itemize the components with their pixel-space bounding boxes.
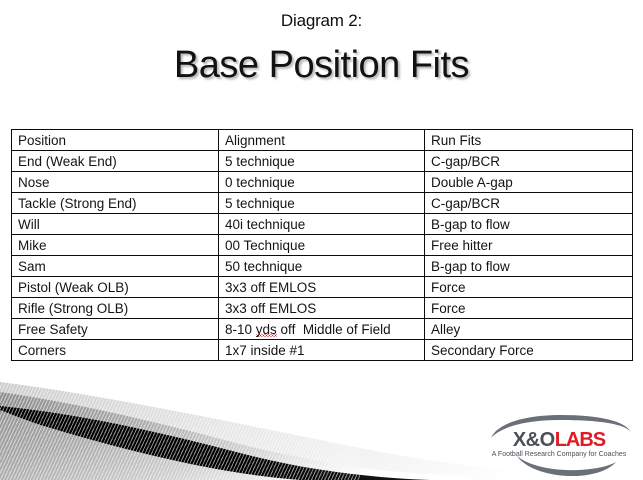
cell-run-fits: Alley [425,319,633,340]
table-row: Free Safety 8-10 yds off Middle of Field… [12,319,633,340]
cell-run-fits: B-gap to flow [425,256,633,277]
logo-word-secondary: LABS [555,429,605,451]
cell-run-fits: Double A-gap [425,172,633,193]
column-header-run-fits: Run Fits [425,130,633,151]
cell-position: Will [12,214,219,235]
slide-canvas: Diagram 2: Base Position Fits Position A… [0,0,643,480]
logo-tagline: A Football Research Company for Coaches [483,450,635,459]
table-header-row: Position Alignment Run Fits [12,130,633,151]
xo-labs-logo: X&OLABS A Football Research Company for … [483,414,635,474]
footer-stripe-texture [0,380,360,480]
page-title: Base Position Fits [0,42,643,88]
cell-position: Nose [12,172,219,193]
cell-position: Sam [12,256,219,277]
cell-alignment: 5 technique [219,193,425,214]
cell-position: Corners [12,340,219,361]
footer-black-wedge [0,406,430,480]
table-row: Pistol (Weak OLB) 3x3 off EMLOS Force [12,277,633,298]
table-row: Sam 50 technique B-gap to flow [12,256,633,277]
cell-position: Tackle (Strong End) [12,193,219,214]
logo-wordmark: X&OLABS [483,429,635,451]
table-row: Tackle (Strong End) 5 technique C-gap/BC… [12,193,633,214]
table-row: Corners 1x7 inside #1 Secondary Force [12,340,633,361]
cell-run-fits: Free hitter [425,235,633,256]
cell-position: Rifle (Strong OLB) [12,298,219,319]
table-row: Rifle (Strong OLB) 3x3 off EMLOS Force [12,298,633,319]
cell-position: Mike [12,235,219,256]
cell-run-fits: C-gap/BCR [425,151,633,172]
cell-alignment: 50 technique [219,256,425,277]
alignment-text-suffix: off Middle of Field [277,322,391,337]
column-header-alignment: Alignment [219,130,425,151]
cell-run-fits: Force [425,277,633,298]
table-row: End (Weak End) 5 technique C-gap/BCR [12,151,633,172]
footer-gray-band [0,392,470,480]
cell-alignment: 40i technique [219,214,425,235]
cell-run-fits: Force [425,298,633,319]
cell-alignment: 00 Technique [219,235,425,256]
cell-run-fits: B-gap to flow [425,214,633,235]
base-position-fits-table: Position Alignment Run Fits End (Weak En… [11,129,633,361]
cell-alignment: 3x3 off EMLOS [219,277,425,298]
slide-subtitle: Diagram 2: [0,10,643,32]
alignment-text-prefix: 8-10 [225,322,256,337]
cell-position: Pistol (Weak OLB) [12,277,219,298]
cell-alignment: 3x3 off EMLOS [219,298,425,319]
logo-word-primary: X&O [513,429,555,451]
cell-position: Free Safety [12,319,219,340]
cell-run-fits: C-gap/BCR [425,193,633,214]
column-header-position: Position [12,130,219,151]
cell-position: End (Weak End) [12,151,219,172]
table-row: Will 40i technique B-gap to flow [12,214,633,235]
cell-run-fits: Secondary Force [425,340,633,361]
cell-alignment: 5 technique [219,151,425,172]
table-row: Mike 00 Technique Free hitter [12,235,633,256]
table-row: Nose 0 technique Double A-gap [12,172,633,193]
cell-alignment: 0 technique [219,172,425,193]
spellcheck-misspelled-word: yds [256,322,277,338]
cell-alignment: 8-10 yds off Middle of Field [219,319,425,340]
cell-alignment: 1x7 inside #1 [219,340,425,361]
